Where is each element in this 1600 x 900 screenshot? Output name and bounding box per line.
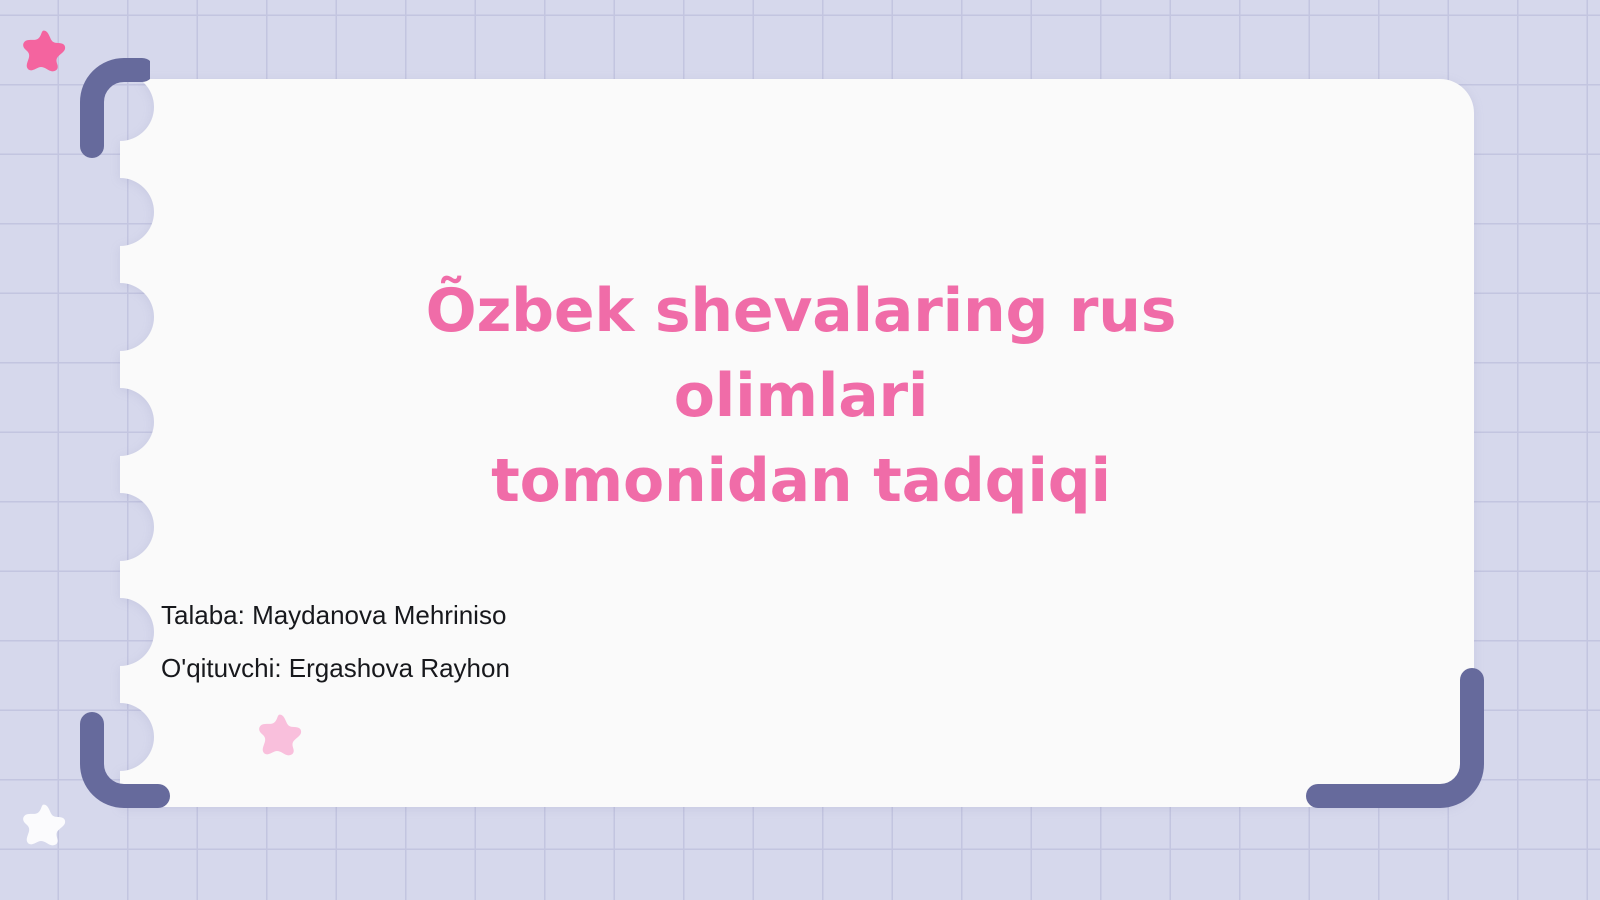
card-content: Õzbek shevalaring rus olimlari tomonidan…: [86, 79, 1474, 807]
credit-student: Talaba: Maydanova Mehriniso: [161, 602, 1061, 628]
slide-title: Õzbek shevalaring rus olimlari tomonidan…: [296, 269, 1306, 525]
slide-card: Õzbek shevalaring rus olimlari tomonidan…: [86, 79, 1474, 807]
star-icon-top-left: [22, 28, 66, 72]
credit-teacher: O'qituvchi: Ergashova Rayhon: [161, 655, 1061, 681]
credits-block: Talaba: Maydanova Mehriniso O'qituvchi: …: [161, 602, 1061, 681]
star-icon-bottom-left: [22, 802, 66, 846]
presentation-slide: Õzbek shevalaring rus olimlari tomonidan…: [0, 0, 1600, 900]
